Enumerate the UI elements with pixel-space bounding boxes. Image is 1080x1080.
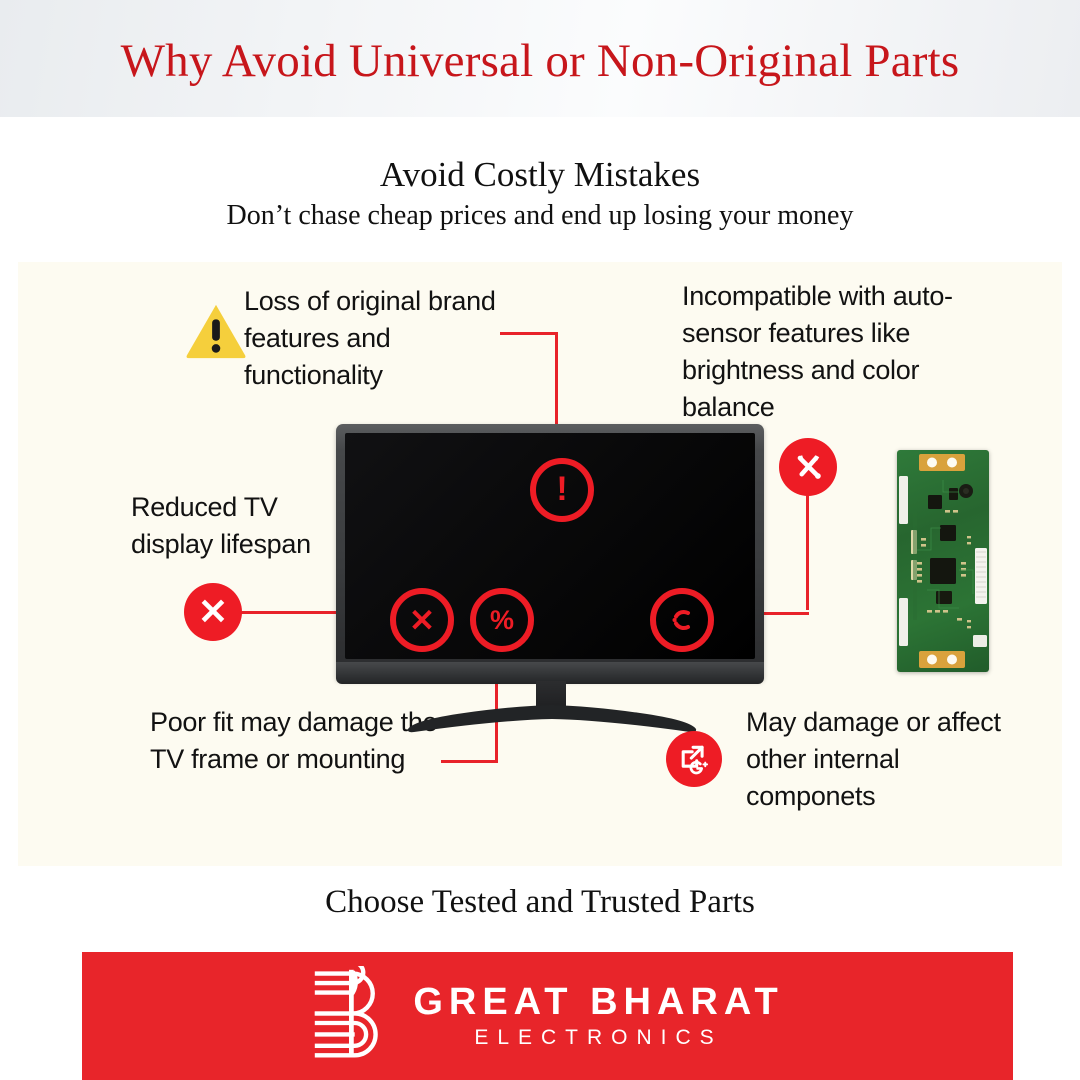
warning-triangle-icon [185,300,247,362]
x-mark-solid-glyph: ✕ [198,594,228,630]
closing-statement: Choose Tested and Trusted Parts [0,884,1080,921]
callout-damage-internal-components: May damage or affect other internal comp… [746,704,1016,815]
exclamation-glyph: ! [556,472,567,506]
infographic-canvas: Why Avoid Universal or Non-Original Part… [0,0,1080,1080]
x-mark-solid-icon: ✕ [184,583,242,641]
callout-incompatible-auto-sensor: Incompatible with auto-sensor features l… [682,278,982,426]
connector-line-incompat-v [806,494,809,610]
intro-heading: Avoid Costly Mistakes [0,155,1080,195]
percent-glyph: % [490,607,514,634]
brand-name: GREAT BHARAT [413,980,783,1024]
great-bharat-b-logo [311,966,387,1066]
x-mark-circle-icon: ✕ [390,588,454,652]
callout-reduced-display-lifespan: Reduced TV display lifespan [131,489,361,563]
brand-subtitle: ELECTRONICS [474,1024,722,1052]
intro-subheading: Don’t chase cheap prices and end up losi… [0,200,1080,232]
percent-circle-icon: % [470,588,534,652]
page-title: Why Avoid Universal or Non-Original Part… [0,34,1080,88]
t-con-board-pcb [897,450,989,672]
callout-loss-of-brand-features: Loss of original brand features and func… [244,283,514,394]
x-mark-glyph: ✕ [409,605,435,636]
brand-banner: GREAT BHARAT ELECTRONICS [82,952,1013,1080]
tools-cross-icon [779,438,837,496]
export-arrow-icon [666,731,722,787]
exclamation-circle-icon: ! [530,458,594,522]
tv-stand-base [404,702,700,734]
sensor-circle-icon [650,588,714,652]
header-bar: Why Avoid Universal or Non-Original Part… [0,0,1080,117]
